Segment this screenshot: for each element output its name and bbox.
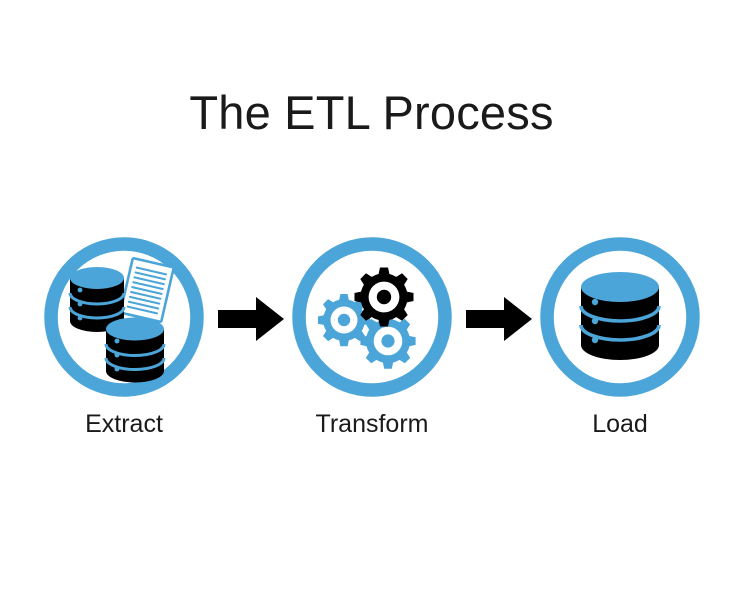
document-icon [120,258,174,322]
stage-label-transform: Transform [232,409,512,439]
page-title: The ETL Process [0,86,743,140]
load-circle [540,237,700,397]
extract-circle [44,237,204,397]
stage-transform[interactable]: Transform [292,237,452,447]
etl-process-diagram: The ETL Process [0,0,743,590]
database-lower-icon [106,318,164,383]
stage-label-load: Load [480,409,743,439]
database-icon [581,272,659,360]
stage-label-extract: Extract [0,409,264,439]
stage-load[interactable]: Load [540,237,700,447]
arrow-right-icon-2 [466,296,532,342]
transform-circle [292,237,452,397]
stage-extract[interactable]: Extract [44,237,204,447]
arrow-right-icon-1 [218,296,284,342]
gear-top-icon [355,268,414,327]
